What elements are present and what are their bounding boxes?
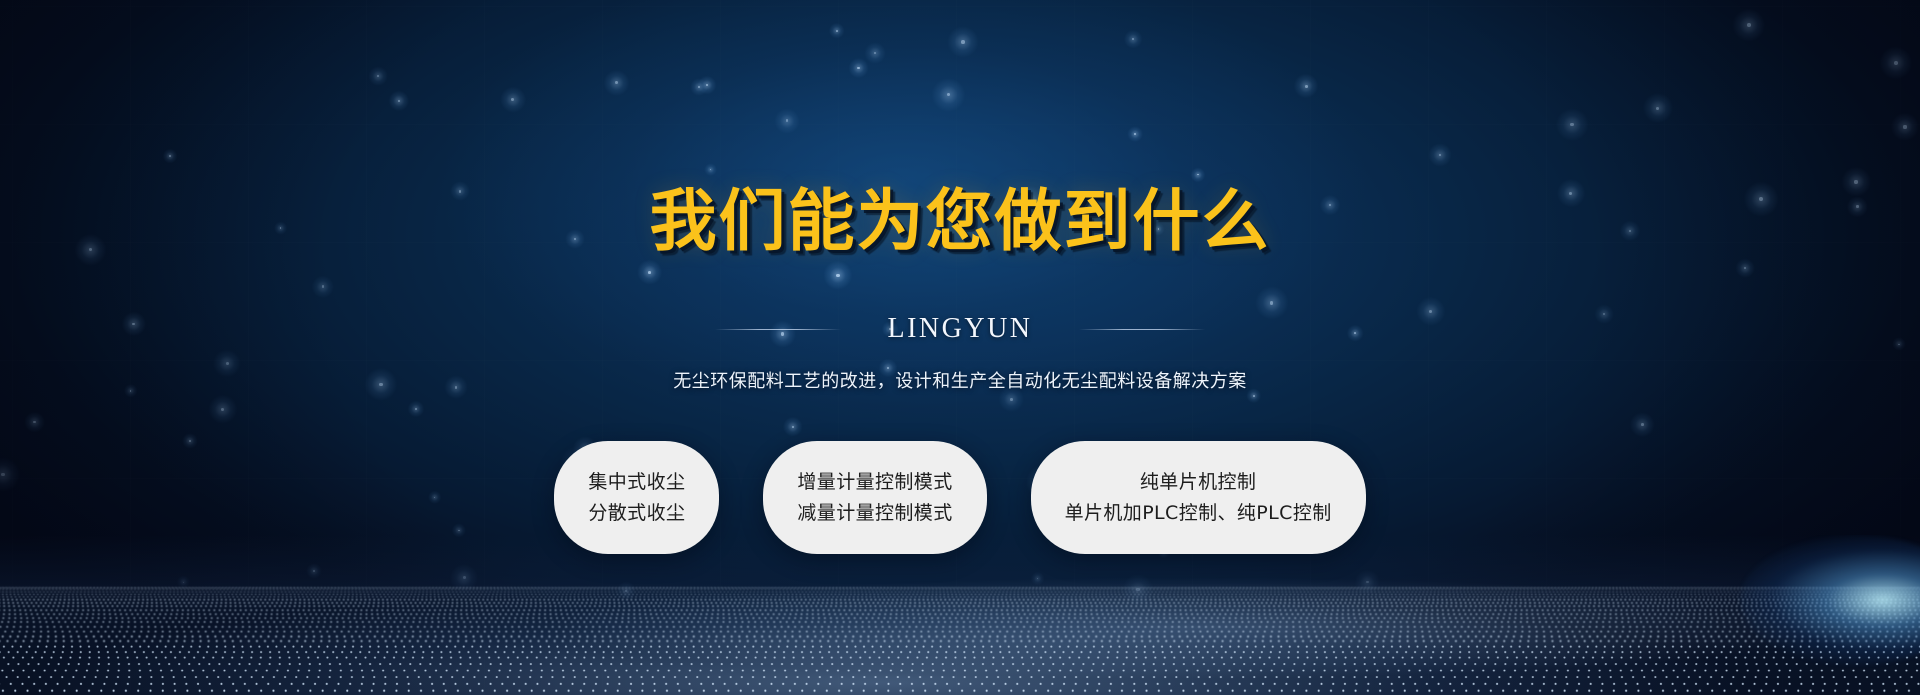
card-line: 增量计量控制模式 <box>797 473 952 492</box>
card-line: 纯单片机控制 <box>1140 473 1256 492</box>
subtitle-english: LINGYUN <box>887 313 1032 345</box>
divider-right <box>1079 329 1205 330</box>
feature-card-list: 集中式收尘 分散式收尘 增量计量控制模式 减量计量控制模式 纯单片机控制 单片机… <box>554 441 1365 554</box>
subtitle-row: LINGYUN <box>715 313 1204 345</box>
card-line: 分散式收尘 <box>588 504 685 523</box>
hero-banner: 我们能为您做到什么 LINGYUN 无尘环保配料工艺的改进，设计和生产全自动化无… <box>0 0 1920 695</box>
feature-card-metering-mode[interactable]: 增量计量控制模式 减量计量控制模式 <box>763 441 986 554</box>
card-line: 单片机加PLC控制、纯PLC控制 <box>1065 504 1332 523</box>
feature-card-control-system[interactable]: 纯单片机控制 单片机加PLC控制、纯PLC控制 <box>1031 441 1366 554</box>
page-title: 我们能为您做到什么 <box>650 186 1271 256</box>
card-line: 集中式收尘 <box>588 473 685 492</box>
description-text: 无尘环保配料工艺的改进，设计和生产全自动化无尘配料设备解决方案 <box>673 367 1247 393</box>
feature-card-dust-collection[interactable]: 集中式收尘 分散式收尘 <box>554 441 719 554</box>
banner-content: 我们能为您做到什么 LINGYUN 无尘环保配料工艺的改进，设计和生产全自动化无… <box>0 0 1920 695</box>
divider-left <box>715 329 841 330</box>
card-line: 减量计量控制模式 <box>797 504 952 523</box>
